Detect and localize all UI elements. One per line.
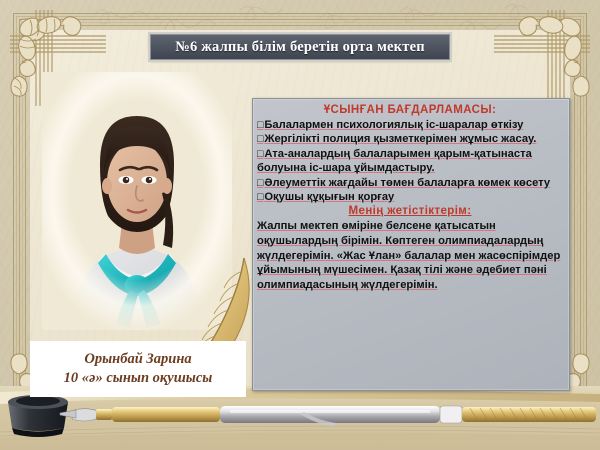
checkbox-icon: □ [257,177,263,189]
content-panel: ҰСЫНҒАН БАҒДАРЛАМАСЫ: □Балалармен психол… [252,98,570,391]
list-item: □Ата-аналардың балаларымен қарым-қатынас… [257,147,563,176]
checkbox-icon: □ [257,148,263,160]
program-heading: ҰСЫНҒАН БАҒДАРЛАМАСЫ: [257,103,563,117]
checkbox-icon: □ [257,119,263,131]
student-photo [42,72,232,330]
student-class: 10 «ә» сынып оқушысы [64,370,213,387]
list-item-label: Жергілікті полиция қызметкерімен жұмыс ж… [264,133,536,145]
school-title-banner: №6 жалпы білім беретін орта мектеп [150,34,450,60]
list-item: □Жергілікті полиция қызметкерімен жұмыс … [257,132,563,146]
list-item-label: Балалармен психологиялық іс-шаралар өткі… [264,119,523,131]
school-title-text: №6 жалпы білім беретін орта мектеп [175,39,425,56]
achievements-heading: Менің жетістіктерім: [257,204,563,218]
achievements-body: Жалпы мектеп өміріне белсене қатысатын о… [257,219,563,292]
list-item-label: Ата-аналардың балаларымен қарым-қатынаст… [257,148,532,174]
list-item-label: Оқушы құқығын қорғау [264,191,394,203]
slide-canvas: №6 жалпы білім беретін орта мектеп [0,0,600,450]
list-item: □Әлеуметтік жағдайы төмен балаларға көме… [257,176,563,190]
student-name: Орынбай Зарина [84,351,191,368]
achievements-text: Жалпы мектеп өміріне белсене қатысатын о… [257,219,563,292]
list-item-label: Әлеуметтік жағдайы төмен балаларға көмек… [264,177,550,189]
program-list: □Балалармен психологиялық іс-шаралар өтк… [257,118,563,204]
student-name-card: Орынбай Зарина 10 «ә» сынып оқушысы [30,341,246,397]
checkbox-icon: □ [257,133,263,145]
list-item: □Оқушы құқығын қорғау [257,190,563,204]
checkbox-icon: □ [257,191,263,203]
list-item: □Балалармен психологиялық іс-шаралар өтк… [257,118,563,132]
